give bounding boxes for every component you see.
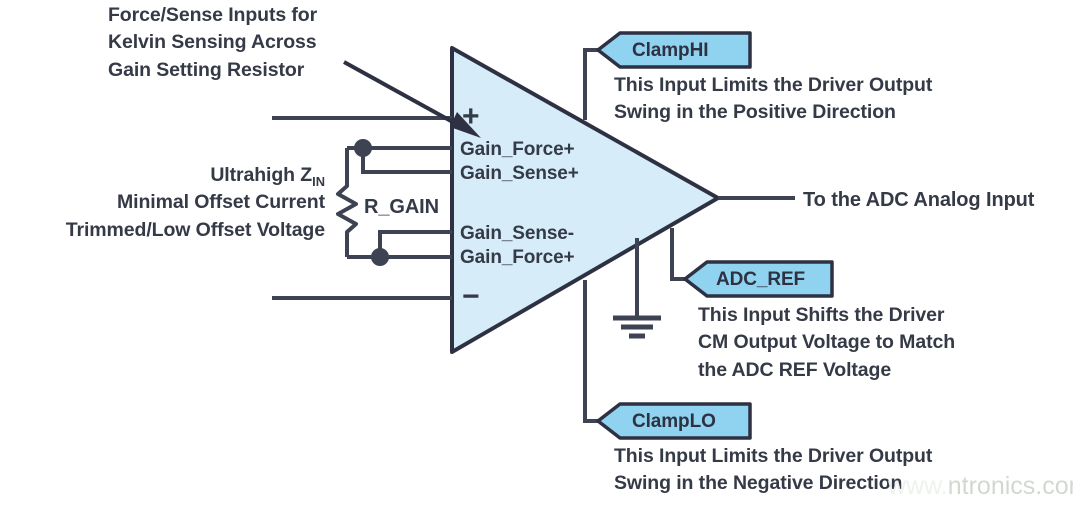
callout-body-adc-ref: This Input Shifts the Driver CM Output V… <box>698 302 955 384</box>
callout-clamp-lo-line2: Swing in the Negative Direction <box>614 470 932 497</box>
note-input-specs-line2: Minimal Offset Current <box>0 189 325 216</box>
resistor-label-rgain: R_GAIN <box>364 194 439 220</box>
callout-body-clamp-lo: This Input Limits the Driver Output Swin… <box>614 443 932 498</box>
note-input-specs-line1-text: Ultrahigh Z <box>210 164 312 186</box>
callout-body-clamp-hi: This Input Limits the Driver Output Swin… <box>614 72 932 127</box>
amplifier-minus-symbol: − <box>462 282 479 312</box>
wire-gain-sense-positive <box>363 148 452 172</box>
pin-label-gain-force-negative: Gain_Force+ <box>460 246 575 271</box>
note-force-sense-line2: Kelvin Sensing Across <box>108 29 317 56</box>
wire-gain-sense-negative <box>380 232 452 257</box>
junction-dot-bottom <box>371 248 389 266</box>
leader-clamp-hi <box>585 50 598 120</box>
output-label: To the ADC Analog Input <box>803 187 1034 213</box>
amplifier-plus-symbol: + <box>462 102 479 132</box>
note-force-sense: Force/Sense Inputs for Kelvin Sensing Ac… <box>108 2 317 84</box>
note-force-sense-line1: Force/Sense Inputs for <box>108 2 317 29</box>
note-force-sense-line3: Gain Setting Resistor <box>108 57 317 84</box>
callout-adc-ref-line3: the ADC REF Voltage <box>698 357 955 384</box>
resistor-rgain-symbol <box>338 186 356 242</box>
junction-dot-top <box>354 139 372 157</box>
badge-label-clamp-lo: ClampLO <box>632 410 716 435</box>
pin-label-gain-sense-positive: Gain_Sense+ <box>460 162 579 187</box>
note-input-specs: Ultrahigh ZIN Minimal Offset Current Tri… <box>0 162 325 244</box>
callout-clamp-lo-line1: This Input Limits the Driver Output <box>614 443 932 470</box>
callout-adc-ref-line1: This Input Shifts the Driver <box>698 302 955 329</box>
note-input-specs-line3: Trimmed/Low Offset Voltage <box>0 217 325 244</box>
leader-clamp-lo <box>585 280 598 421</box>
note-input-specs-line1: Ultrahigh ZIN <box>0 162 325 189</box>
badge-label-adc-ref: ADC_REF <box>716 268 805 293</box>
diagram-canvas: Force/Sense Inputs for Kelvin Sensing Ac… <box>0 0 1073 507</box>
callout-adc-ref-line2: CM Output Voltage to Match <box>698 329 955 356</box>
note-input-specs-line1-subscript: IN <box>312 174 325 189</box>
callout-clamp-hi-line2: Swing in the Positive Direction <box>614 99 932 126</box>
badge-label-clamp-hi: ClampHI <box>632 39 708 64</box>
pin-label-gain-force-positive: Gain_Force+ <box>460 138 575 163</box>
leader-adc-ref <box>672 228 685 279</box>
callout-clamp-hi-line1: This Input Limits the Driver Output <box>614 72 932 99</box>
pin-label-gain-sense-negative: Gain_Sense- <box>460 222 574 247</box>
